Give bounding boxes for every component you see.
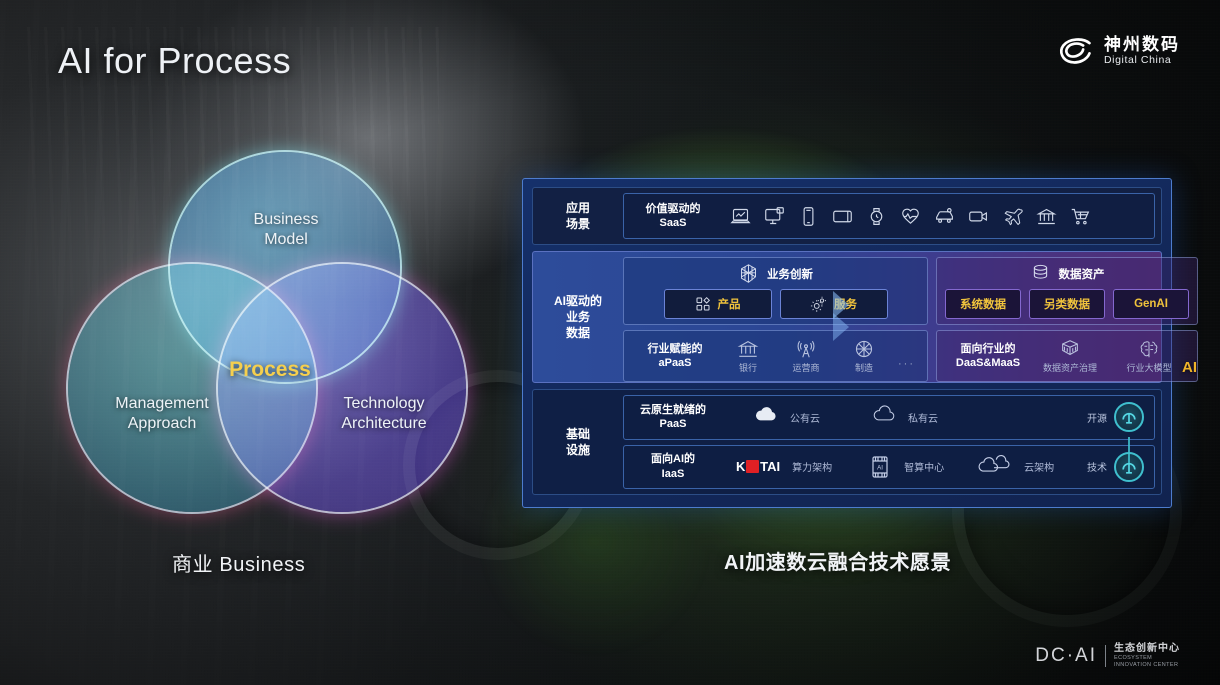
manufacture-icon <box>853 338 875 360</box>
shopping-cart-icon <box>1070 206 1091 227</box>
mini-operator: 运营商 <box>782 338 830 374</box>
venn-label-technology-architecture: Technology Architecture <box>304 394 464 433</box>
item-cloud-architecture: 云架构 <box>978 455 1054 479</box>
venn-circle-technology-architecture <box>218 264 466 512</box>
item-private-cloud: 私有云 <box>872 405 938 429</box>
band3-side-line2: 设施 <box>566 442 590 458</box>
video-camera-icon <box>968 206 989 227</box>
venn-label-business-model-line2: Model <box>228 230 344 250</box>
band-application-scenarios: 应用 场景 价值驱动的 SaaS <box>532 187 1162 245</box>
kutai-logo-left: K <box>736 459 745 474</box>
venn-diagram: Business Model Management Approach Techn… <box>68 152 460 512</box>
strip-ai-iaas[interactable]: 面向AI的 IaaS K TAI 算力架构 AI 智算中心 <box>623 445 1155 490</box>
mini-manufacturing: 制造 <box>840 338 888 374</box>
chip-service-label: 服务 <box>834 296 857 312</box>
smartwatch-icon <box>866 206 887 227</box>
architecture-panel: 应用 场景 价值驱动的 SaaS <box>522 178 1172 508</box>
item-public-cloud: 公有云 <box>754 405 820 429</box>
brain-network-icon <box>1138 338 1160 360</box>
band1-tag-line1: 价值驱动的 <box>634 202 712 216</box>
strip-value-driven-saas[interactable]: 价值驱动的 SaaS <box>623 193 1155 239</box>
apaas-tag-line1: 行业赋能的 <box>636 342 714 356</box>
apaas-tag-line2: aPaaS <box>636 356 714 370</box>
cloud-filled-icon <box>754 405 778 429</box>
band-label-ai-driven-business-data: AI驱动的 业务 数据 <box>533 252 623 382</box>
venn-label-business-model-line1: Business <box>228 210 344 230</box>
badge-open-source[interactable]: 开源 <box>1087 402 1144 432</box>
mini-bank: 银行 <box>724 338 772 374</box>
band-label-infrastructure: 基础 设施 <box>533 390 623 494</box>
item-compute-arch-label: 算力架构 <box>792 459 832 474</box>
band-label-application-scenarios: 应用 场景 <box>533 188 623 244</box>
apaas-ellipsis: ··· <box>898 358 915 374</box>
multi-cloud-icon <box>978 455 1012 479</box>
bank-icon <box>1036 206 1057 227</box>
svg-text:AI: AI <box>877 464 883 471</box>
mini-data-governance-label: 数据资产治理 <box>1043 361 1097 374</box>
tag-industry-apaas: 行业赋能的 aPaaS <box>636 342 714 371</box>
shapes-icon <box>695 296 711 312</box>
cell-industry-daas-maas[interactable]: 面向行业的 DaaS&MaaS 数据资产治理 行业大模型 AI <box>936 330 1198 382</box>
footer-name-en-line1: ECOSYSTEM <box>1114 655 1180 662</box>
brand-logo: 神州数码 Digital China <box>1057 36 1180 68</box>
mini-industry-large-model: 行业大模型 AI <box>1113 338 1185 374</box>
chip-genai[interactable]: GenAI <box>1113 289 1189 319</box>
venn-center-label-process: Process <box>210 358 330 382</box>
tag-ai-iaas: 面向AI的 IaaS <box>634 452 712 481</box>
band1-tag-line2: SaaS <box>634 216 712 230</box>
venn-label-technology-architecture-line2: Architecture <box>304 414 464 434</box>
scenario-icon-row <box>730 206 1091 227</box>
cell-business-innovation[interactable]: 业务创新 产品 服务 <box>623 257 928 325</box>
label-business-innovation: 业务创新 <box>767 266 813 282</box>
heartbeat-icon <box>900 206 921 227</box>
row-industry-daas-maas: 面向行业的 DaaS&MaaS 数据资产治理 行业大模型 AI <box>945 336 1189 376</box>
database-icon <box>1030 263 1051 284</box>
chip-product[interactable]: 产品 <box>664 289 772 319</box>
venn-label-business-model: Business Model <box>228 210 344 249</box>
item-ai-computing-center-label: 智算中心 <box>904 459 944 474</box>
venn-label-management-approach: Management Approach <box>82 394 242 433</box>
badge-connector-line <box>1128 437 1130 463</box>
chip-system-data[interactable]: 系统数据 <box>945 289 1021 319</box>
monitor-icon <box>764 206 785 227</box>
chip-alternative-data[interactable]: 另类数据 <box>1029 289 1105 319</box>
iaas-tag-line1: 面向AI的 <box>634 452 712 466</box>
band2-side-line1: AI驱动的 <box>554 293 602 309</box>
band2-side-line3: 数据 <box>554 325 602 341</box>
page-title: AI for Process <box>58 40 291 82</box>
badge-technology[interactable]: 技术 <box>1087 452 1144 482</box>
tag-industry-daas-maas: 面向行业的 DaaS&MaaS <box>949 342 1027 371</box>
kutai-logo-square <box>746 460 759 473</box>
caption-ai-cloud-vision: AI加速数云融合技术愿景 <box>724 546 951 575</box>
cloud-outline-icon <box>872 405 896 429</box>
chips-data-assets: 系统数据 另类数据 GenAI <box>945 289 1189 319</box>
header-business-innovation: 业务创新 <box>632 263 919 284</box>
item-public-cloud-label: 公有云 <box>790 410 820 425</box>
footer-dc-ai-mark: DC·AI <box>1035 645 1097 667</box>
venn-label-management-approach-line2: Approach <box>82 414 242 434</box>
car-icon <box>934 206 955 227</box>
footer-logo: DC·AI 生态创新中心 ECOSYSTEM INNOVATION CENTER <box>1035 643 1180 669</box>
band-infrastructure: 基础 设施 云原生就绪的 PaaS 公有云 私有云 <box>532 389 1162 495</box>
data-governance-icon <box>1059 338 1081 360</box>
brand-name-cn: 神州数码 <box>1104 36 1180 54</box>
header-data-assets: 数据资产 <box>945 263 1189 284</box>
chip-product-label: 产品 <box>718 296 741 312</box>
band1-side-line1: 应用 <box>566 200 590 216</box>
tablet-icon <box>832 206 853 227</box>
cell-data-assets[interactable]: 数据资产 系统数据 另类数据 GenAI <box>936 257 1198 325</box>
item-cloud-architecture-label: 云架构 <box>1024 459 1054 474</box>
footer-divider <box>1105 645 1106 667</box>
row-industry-apaas: 行业赋能的 aPaaS 银行 运营商 制造 <box>632 336 919 376</box>
band2-side-line2: 业务 <box>554 309 602 325</box>
footer-name-cn: 生态创新中心 <box>1114 643 1180 655</box>
mini-operator-label: 运营商 <box>792 361 819 374</box>
caption-business: 商业 Business <box>172 548 305 577</box>
band3-side-line1: 基础 <box>566 426 590 442</box>
tag-cloud-native-paas: 云原生就绪的 PaaS <box>634 403 712 432</box>
badge-technology-label: 技术 <box>1087 459 1107 474</box>
mini-industry-large-model-label: 行业大模型 <box>1126 361 1171 374</box>
mini-data-governance: 数据资产治理 <box>1037 338 1103 374</box>
kutai-logo: K TAI <box>736 459 780 474</box>
smartphone-icon <box>798 206 819 227</box>
iaas-tag-line2: IaaS <box>634 467 712 481</box>
strip-cloud-native-paas[interactable]: 云原生就绪的 PaaS 公有云 私有云 开源 <box>623 395 1155 440</box>
digital-china-swirl-icon <box>1057 36 1095 68</box>
chips-business-innovation: 产品 服务 <box>632 289 919 319</box>
paas-tag-line2: PaaS <box>634 417 712 431</box>
item-kutai-compute: K TAI 算力架构 <box>736 459 832 474</box>
bank-icon <box>737 338 759 360</box>
venn-label-technology-architecture-line1: Technology <box>304 394 464 414</box>
ai-server-rack-icon: AI <box>868 455 892 479</box>
daas-tag-line2: DaaS&MaaS <box>949 356 1027 370</box>
cell-industry-apaas[interactable]: 行业赋能的 aPaaS 银行 运营商 制造 <box>623 330 928 382</box>
footer-name-en-line2: INNOVATION CENTER <box>1114 662 1180 669</box>
kutai-logo-right: TAI <box>760 459 780 474</box>
ai-badge: AI <box>1182 359 1197 376</box>
mini-bank-label: 银行 <box>739 361 757 374</box>
slide-canvas: AI for Process 神州数码 Digital China Busine… <box>0 0 1220 685</box>
item-ai-computing-center: AI 智算中心 <box>868 455 944 479</box>
venn-label-management-approach-line1: Management <box>82 394 242 414</box>
label-data-assets: 数据资产 <box>1059 266 1105 282</box>
airplane-icon <box>1002 206 1023 227</box>
cube-mesh-icon <box>738 263 759 284</box>
antenna-tower-icon <box>795 338 817 360</box>
brand-name-en: Digital China <box>1104 54 1180 68</box>
paas-tag-line1: 云原生就绪的 <box>634 403 712 417</box>
tag-value-driven-saas: 价值驱动的 SaaS <box>634 202 712 231</box>
band-ai-driven-business-data: AI驱动的 业务 数据 业务创新 产品 <box>532 251 1162 383</box>
item-private-cloud-label: 私有云 <box>908 410 938 425</box>
footer-text: 生态创新中心 ECOSYSTEM INNOVATION CENTER <box>1114 643 1180 669</box>
daas-tag-line1: 面向行业的 <box>949 342 1027 356</box>
brand-logo-text: 神州数码 Digital China <box>1104 36 1180 67</box>
openatom-icon <box>1114 402 1144 432</box>
badge-open-source-label: 开源 <box>1087 410 1107 425</box>
gears-icon <box>810 296 827 313</box>
band1-side-line2: 场景 <box>566 216 590 232</box>
laptop-chart-icon <box>730 206 751 227</box>
chip-service[interactable]: 服务 <box>780 289 888 319</box>
mini-manufacturing-label: 制造 <box>855 361 873 374</box>
